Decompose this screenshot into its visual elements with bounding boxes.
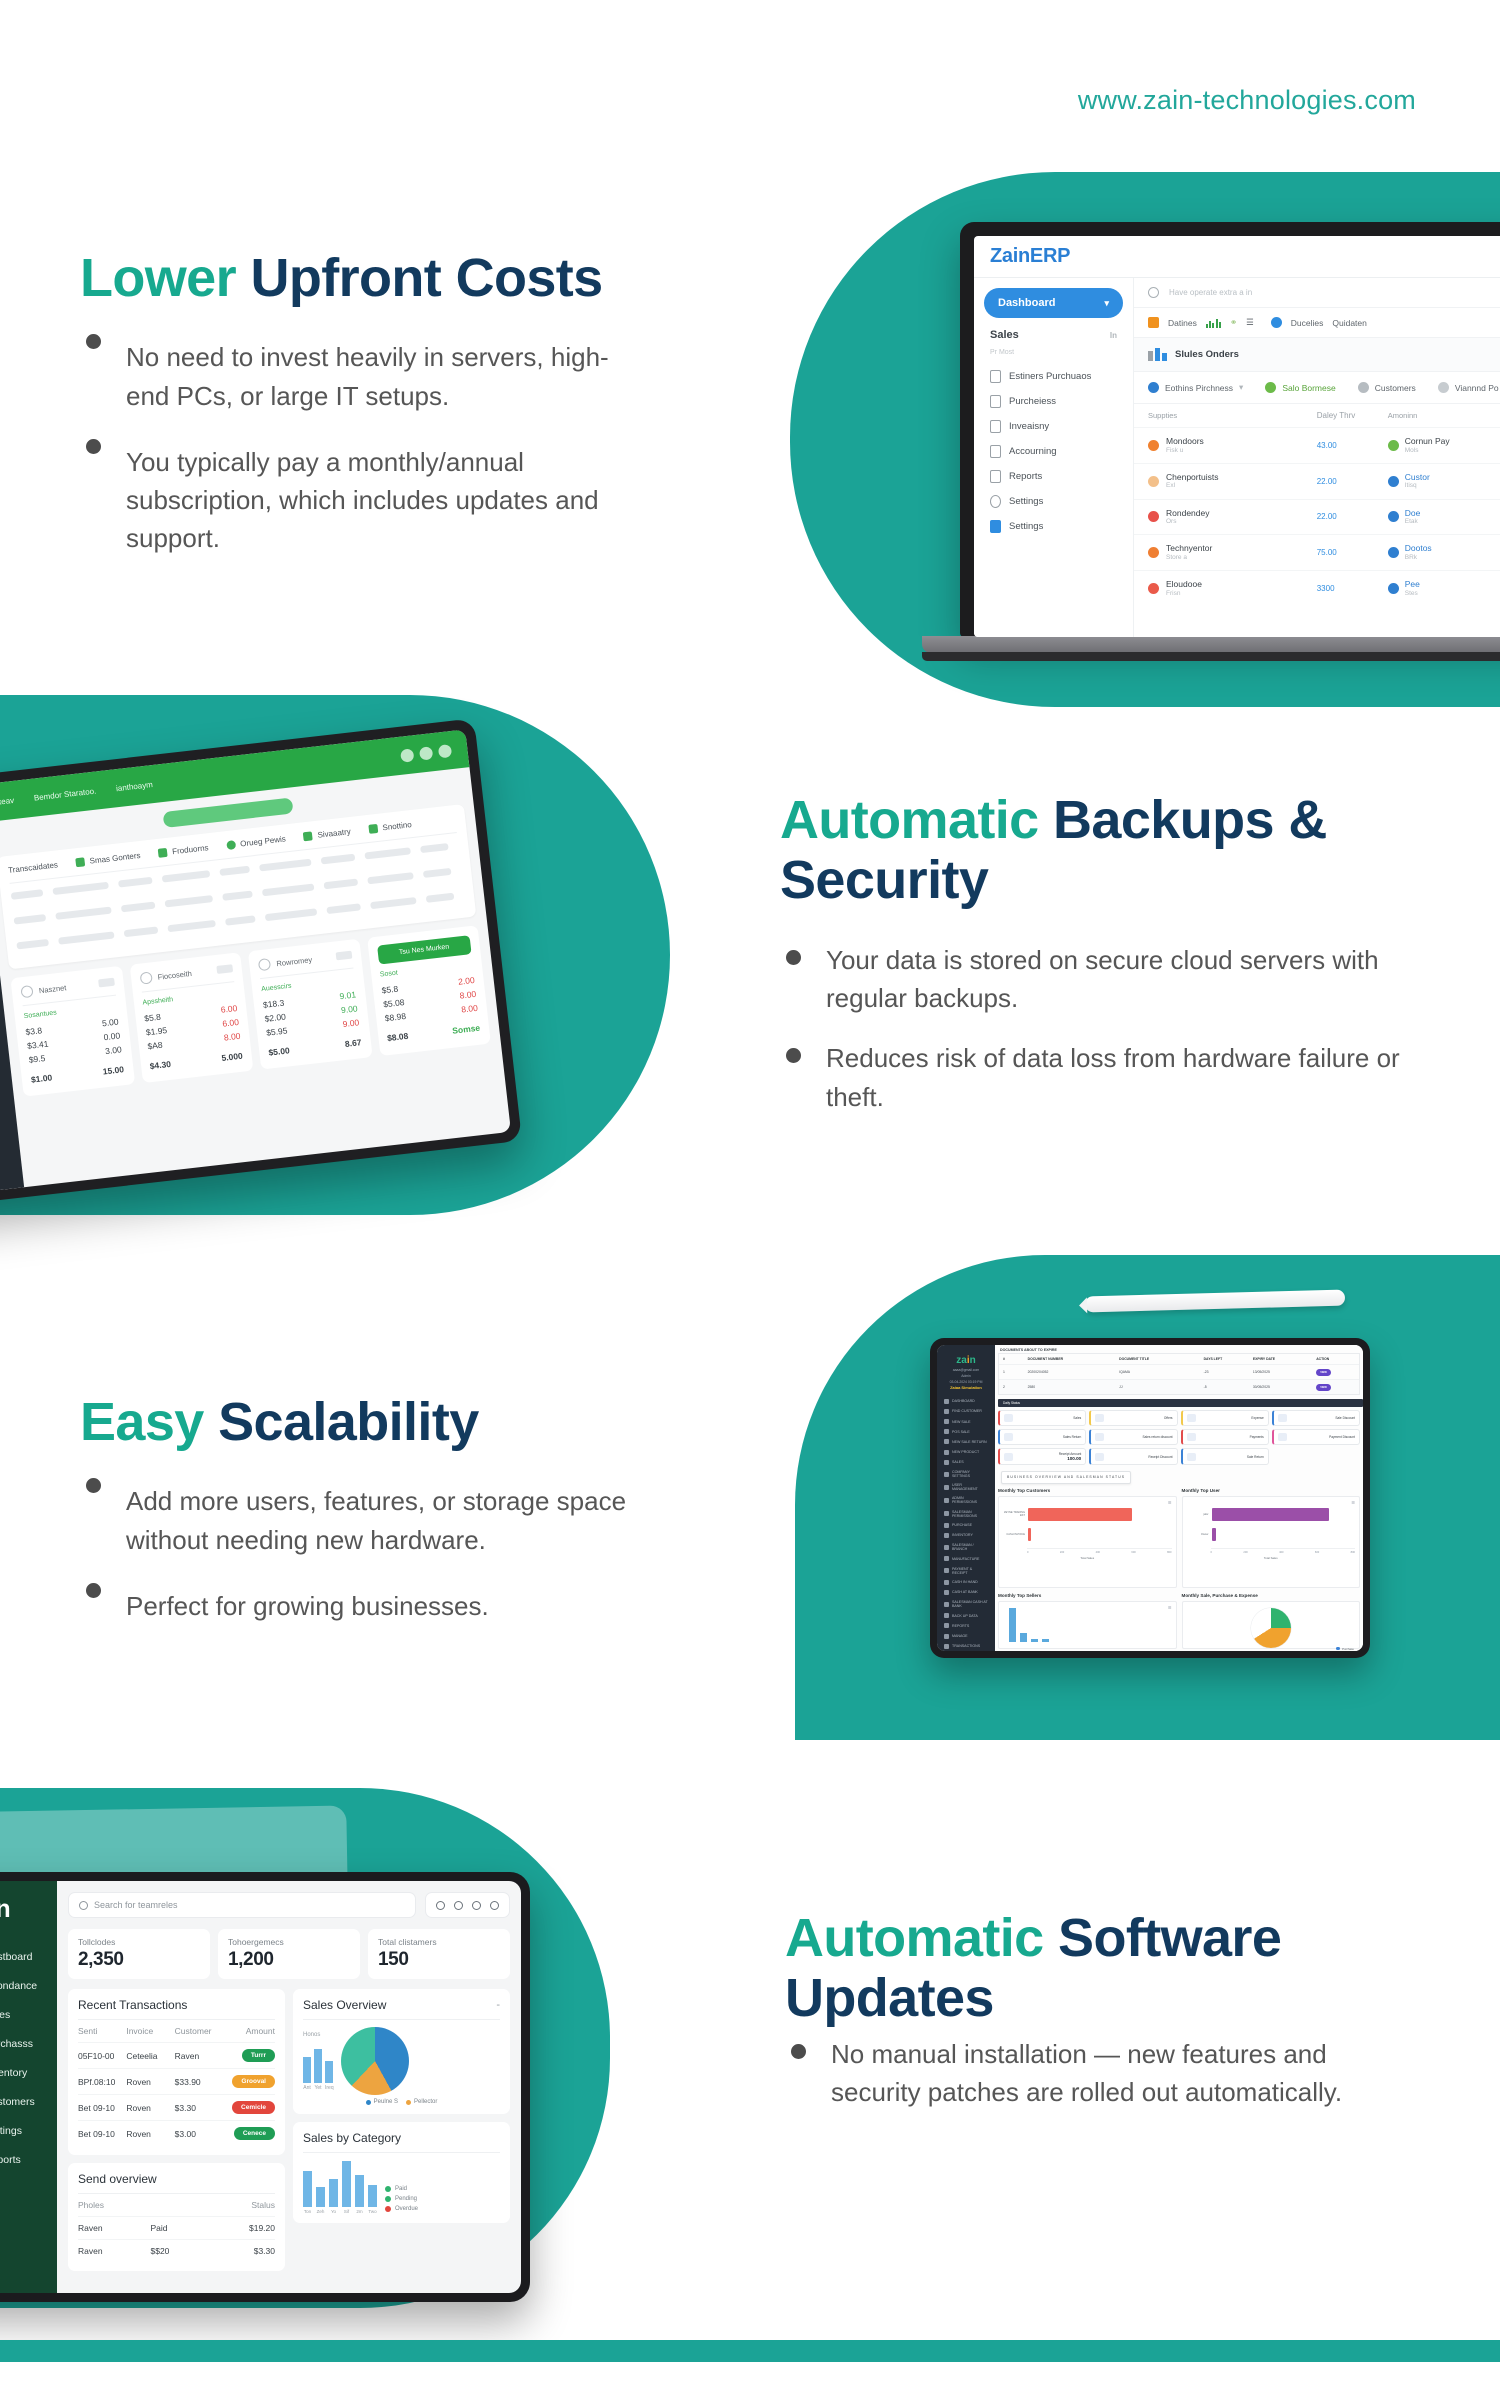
right-column: Sales Overview - Honos Ant Yet Ireq (293, 1989, 510, 2271)
value-left: $5.8 (381, 984, 399, 996)
page-title: Automatic Backups & Security (780, 790, 1400, 911)
nav-icon (944, 1634, 949, 1639)
kpi-value: 150 (378, 1949, 500, 1971)
value-right: 9.01 (339, 989, 357, 1001)
sidebar-item[interactable]: Customers (0, 2087, 57, 2116)
circle-icon (258, 958, 271, 971)
row-status: CustorItisq (1405, 472, 1430, 491)
row-action[interactable]: VIEW (1316, 1384, 1355, 1391)
table-row[interactable]: RavenPaid$19.20 (78, 2216, 275, 2239)
topbar-item[interactable]: ianthoaym (116, 780, 154, 793)
chart-top-user: Monthly Top User ☰ jafer Owner 020040060… (1182, 1488, 1361, 1588)
box-title: Rowromey (276, 955, 313, 968)
value-left: $2.00 (264, 1012, 286, 1024)
sidebar-item-label: Inveaisny (1009, 421, 1049, 432)
sales-by-category-card: Sales by Category TonZehYoSif2mTwo PaidP… (293, 2122, 510, 2223)
status-badge: Grooval (232, 2075, 275, 2088)
column-header: Customer (175, 2026, 223, 2036)
sidebar-item-label: Accourning (1009, 446, 1057, 457)
tab-vendor[interactable]: Viannnd Po (1438, 382, 1499, 393)
chart-body: ☰ ZEYNE TRADING EST CASH INVOICE 0200400… (998, 1496, 1177, 1588)
tablet-mockup-dashboard: zain DastboardAirondanceSalesPurchasssIn… (0, 1872, 530, 2302)
sidebar-item-label: POS SALE (952, 1430, 970, 1434)
sidebar-item-label: Settings (1009, 496, 1043, 507)
stat-icon (1278, 1433, 1287, 1441)
bullet-dot (86, 1583, 101, 1598)
stat-card[interactable]: Offers (1089, 1410, 1177, 1426)
stat-text: Receipt Amount100.00 (1059, 1452, 1082, 1461)
sidebar-item[interactable]: SALES (941, 1457, 991, 1467)
chart-body: Purchase Sale expense (1182, 1601, 1361, 1649)
tab-products[interactable]: Froduorns (158, 843, 209, 858)
row-name: RondendeyOrs (1166, 508, 1209, 527)
sidebar-item[interactable]: MANUFACTURE (941, 1554, 991, 1564)
value-right: 6.00 (222, 1017, 240, 1029)
tab-label: Snottino (382, 820, 412, 832)
more-icon[interactable]: - (496, 1999, 500, 2011)
stat-card[interactable]: Receipt Amount100.00 (998, 1448, 1086, 1465)
shield-icon[interactable]: ⚭ (1230, 317, 1237, 328)
tab-customers[interactable]: Customers (1358, 382, 1416, 393)
row-name: ChenportuistsExl (1166, 472, 1218, 491)
erp-content: Have operate extra a in | ▾ Datines ⚭ ☰ (1134, 278, 1500, 637)
print-icon[interactable] (1271, 317, 1282, 328)
stat-icon (1278, 1414, 1287, 1422)
topbar-actions[interactable] (400, 744, 452, 763)
sidebar-item-accounting[interactable]: Accourning (984, 439, 1123, 464)
pie-chart (1251, 1608, 1291, 1648)
nav-icon (944, 1485, 949, 1490)
stat-card[interactable]: Sale Discount (1272, 1410, 1360, 1426)
legend-label: Paid (395, 2186, 407, 2192)
sidebar-item[interactable]: Settings (0, 2116, 57, 2145)
stat-text: Expense (1251, 1416, 1263, 1420)
status-badge: Cemicle (232, 2101, 275, 2114)
sidebar-item[interactable]: CASH IN HAND (941, 1577, 991, 1587)
kpi-card: Tohoergemecs1,200 (218, 1929, 360, 1979)
sidebar-item[interactable]: BACK UP DATA (941, 1611, 991, 1621)
sidebar-item-label: SALESMAN / BRANCH (952, 1543, 988, 1551)
sidebar-item[interactable]: Airondance (0, 1971, 57, 2000)
sidebar-item-purchases-est[interactable]: Estiners Purchuaos (984, 364, 1123, 389)
avatar[interactable] (490, 1901, 499, 1910)
bullet-list: Add more users, features, or storage spa… (80, 1482, 700, 1625)
sidebar-item[interactable]: POS SALE (941, 1427, 991, 1437)
gear-icon (990, 495, 1001, 508)
gear-icon (990, 520, 1001, 533)
tab-sale-bonus[interactable]: Salo Bormese (1265, 382, 1335, 393)
tick: Ton (303, 2209, 312, 2214)
topbar-item[interactable]: Bemdor Staratoo. (33, 786, 96, 802)
chart-menu-icon[interactable]: ☰ (1168, 1605, 1172, 1610)
sidebar-item-dashboard[interactable]: Dashboard ▾ (984, 288, 1123, 318)
total-left: $1.00 (30, 1072, 52, 1084)
sidebar-item[interactable]: PAYMENT & RECEIPT (941, 1564, 991, 1577)
sidebar-item[interactable]: MANAGE (941, 1631, 991, 1641)
box-icon (990, 420, 1001, 433)
row-cell: $3.00 (175, 2129, 223, 2139)
bullet-dot (86, 439, 101, 454)
value-left: $3.41 (27, 1039, 49, 1051)
nav-icon (944, 1533, 949, 1538)
summary-box: Nasznet Sosantues $3.85.00$3.410.00$9.53… (10, 966, 134, 1097)
status-badge: Turrr (242, 2049, 275, 2062)
value-left: $1.95 (145, 1025, 167, 1037)
page-title: Easy Scalability (80, 1392, 700, 1452)
sidebar-item[interactable]: USER MANAGEMENT (941, 1481, 991, 1494)
stat-icon (1004, 1453, 1013, 1461)
kpi-value: 2,350 (78, 1949, 200, 1971)
sidebar-item-purchases[interactable]: Purcheiess (984, 389, 1123, 414)
sidebar-item-label: Reports (0, 2154, 21, 2166)
sidebar-dashboard-label: Dashboard (998, 297, 1055, 309)
sidebar-item-label: Sales (0, 2009, 10, 2021)
tab-label: Orueg Pewis (240, 834, 287, 848)
chart-body: ☰ jafer Owner 0200400600800 Total Sales (1182, 1496, 1361, 1588)
column-header: Stalus (223, 2200, 275, 2210)
sidebar-item-label: NEW SALE RETURN (952, 1440, 987, 1444)
table-row[interactable]: Raven$$20$3.30 (78, 2239, 275, 2262)
sidebar-item[interactable]: PURCHASE (941, 1520, 991, 1530)
table-row[interactable]: ChenportuistsExl 22.00 CustorItisq (1134, 463, 1500, 499)
circle-icon (226, 840, 236, 850)
refresh-icon[interactable] (454, 1901, 463, 1910)
primary-button[interactable]: Tsu Nes Murken (377, 935, 472, 964)
tab-label: Salo Bormese (1282, 383, 1335, 393)
column-header: Daley Thrv (1317, 411, 1388, 420)
tab-sales-orders[interactable]: Smas Gonters (75, 851, 141, 867)
search-icon (79, 1901, 88, 1910)
sidebar-item-label: FIND CUSTOMER (952, 1409, 982, 1413)
bullet-list: Your data is stored on secure cloud serv… (780, 941, 1400, 1116)
search-input[interactable]: Search for teamreles (68, 1892, 416, 1918)
row-name: MondoorsFisk u (1166, 436, 1204, 455)
tab-label: Smas Gonters (89, 851, 141, 866)
table-row[interactable]: RondendeyOrs 22.00 DoeEtak (1134, 499, 1500, 535)
tab-purchases[interactable]: Eothins Pirchness ▾ (1148, 382, 1243, 393)
stat-card[interactable]: Sales return discount (1089, 1429, 1177, 1445)
erp-brand: ZainERP (990, 245, 1070, 268)
stat-icon (1004, 1414, 1013, 1422)
list-item: Reduces risk of data loss from hardware … (780, 1039, 1400, 1115)
sidebar-item[interactable]: NEW PRODUCT (941, 1447, 991, 1457)
erp-content: DOCUMENTS ABOUT TO EXPIRE #DOCUMENT NUMB… (995, 1345, 1363, 1651)
value-left: $5.08 (383, 997, 405, 1009)
tick: 600 (1131, 1551, 1135, 1554)
bars (1003, 1606, 1172, 1642)
chart-menu-icon[interactable]: ☰ (1168, 1500, 1172, 1505)
legend-label: Pellector (414, 2099, 437, 2105)
sidebar-item-inventory[interactable]: Inveaisny (984, 414, 1123, 439)
stat-card[interactable]: Payments (1181, 1429, 1269, 1445)
stat-card[interactable]: Expense (1181, 1410, 1269, 1426)
row-cell: Raven (78, 2223, 151, 2233)
tab-transactions[interactable]: Transcaidates (8, 860, 59, 875)
row-cell: 1 (1003, 1370, 1028, 1374)
row-cell: Raven (78, 2246, 151, 2256)
value-right: 5.00 (101, 1016, 119, 1028)
nav-icon (944, 1556, 949, 1561)
legend-item: Peulne S (366, 2099, 398, 2105)
row-badge: Cemicle (223, 2101, 275, 2114)
tab-statistics[interactable]: Snottino (368, 820, 412, 834)
row-cell: Paid (151, 2223, 224, 2233)
kpi-value: 1,200 (228, 1949, 350, 1971)
sidebar-item-label: PURCHASE (952, 1523, 972, 1527)
sidebar-item[interactable]: Dastboard (0, 1942, 57, 1971)
sidebar-item-sales[interactable]: Sales In (984, 318, 1123, 347)
table-row[interactable]: 22580JJ-530/05/2025VIEW (999, 1379, 1359, 1394)
list-item-text: You typically pay a monthly/annual subsc… (126, 447, 599, 553)
row-cell: -5 (1204, 1385, 1253, 1389)
bullet-dot (86, 334, 101, 349)
section-header: Slules Onders (1134, 338, 1500, 372)
row-amount: 75.00 (1317, 548, 1388, 557)
value-left: $8.98 (384, 1011, 406, 1023)
table-row[interactable]: TechnyentorStore a 75.00 DootosBRk (1134, 534, 1500, 570)
list-item: No need to invest heavily in servers, hi… (80, 338, 640, 414)
bar-label: Owner (1187, 1533, 1209, 1536)
stat-icon (1095, 1433, 1104, 1441)
row-cell: $3.30 (223, 2246, 275, 2256)
sidebar-item-label: DASHBOARD (952, 1399, 975, 1403)
total-left: $5.00 (268, 1045, 290, 1057)
heading-highlight: Automatic (785, 1908, 1058, 1968)
table-row[interactable]: EloudooeFrisn 3300 PeeStes (1134, 570, 1500, 606)
sidebar-item[interactable]: NEW SALE (941, 1417, 991, 1427)
kpi-card: Tollclodes2,350 (68, 1929, 210, 1979)
placeholder (216, 964, 233, 974)
sidebar-item[interactable]: Sales (0, 2000, 57, 2029)
action-icons[interactable] (425, 1892, 510, 1918)
sidebar-item[interactable]: ADMIN PERMISSIONS (941, 1494, 991, 1507)
expiry-title: DOCUMENTS ABOUT TO EXPIRE (995, 1345, 1363, 1353)
table-row[interactable]: 05F10-00CeteeliaRavenTurrr (78, 2042, 275, 2068)
toolbar-item-label[interactable]: Ducelies (1291, 318, 1324, 328)
sidebar-item-settings-2[interactable]: Settings (984, 514, 1123, 539)
sidebar-item[interactable]: DASHBOARD (941, 1396, 991, 1406)
stat-card[interactable]: Sale Return (1181, 1448, 1269, 1465)
bar (1212, 1508, 1330, 1521)
value-right: 9.00 (342, 1017, 360, 1029)
table-body: 05F10-00CeteeliaRavenTurrrBPf.08:10Roven… (78, 2042, 275, 2146)
row-action[interactable]: VIEW (1316, 1369, 1355, 1376)
topbar-item[interactable]: Scromtioteav (0, 795, 15, 809)
sidebar-item[interactable]: ertings (0, 1100, 8, 1133)
sidebar-item-label: SALESMAN CASH AT BANK (952, 1600, 988, 1608)
total-left: $8.08 (387, 1031, 409, 1043)
sidebar-item[interactable]: SALESMAN CASH AT BANK (941, 1598, 991, 1611)
value-right: 8.00 (459, 989, 477, 1001)
row-cell: 05F10-00 (78, 2051, 126, 2061)
sidebar-item-label: PAYMENT & RECEIPT (952, 1567, 988, 1575)
table-row[interactable]: MondoorsFisk u 43.00 Cornun PayMols (1134, 427, 1500, 463)
row-cell: Roven (126, 2077, 174, 2087)
list-item: Perfect for growing businesses. (80, 1587, 700, 1625)
sidebar-item[interactable]: SALESMAN / BRANCH (941, 1541, 991, 1554)
nav-icon (944, 1602, 949, 1607)
tick: Yo (329, 2209, 338, 2214)
heading-highlight: Lower (80, 248, 250, 308)
stat-icon (1095, 1453, 1104, 1461)
sidebar-item-label: MANAGE (952, 1634, 968, 1638)
tick: 0 (1027, 1551, 1028, 1554)
sidebar-item[interactable]: Inventory (0, 2058, 57, 2087)
table-body: 120200204052IQAMA-2313/05/2025VIEW22580J… (999, 1364, 1359, 1394)
tablet-screen: n ▾ ☰ Scromtioteav Bemdor Staratoo. iant… (0, 729, 511, 1199)
table-body: MondoorsFisk u 43.00 Cornun PayMols Chen… (1134, 427, 1500, 606)
table-row[interactable]: Bet 09-10Roven$3.00Cenece (78, 2120, 275, 2146)
stat-card[interactable]: Payment Discount (1272, 1429, 1360, 1445)
row-cell: Ceteelia (126, 2051, 174, 2061)
toolbar-item-label[interactable]: Datines (1168, 318, 1197, 328)
stat-text: Offers (1164, 1416, 1173, 1420)
sidebar-item[interactable]: NEW SALE RETURN (941, 1437, 991, 1447)
sidebar-item[interactable]: TRANSACTIONS (941, 1641, 991, 1651)
nav-icon (944, 1450, 949, 1455)
erp-main: Dashboard ▾ Sales In Pr Most Estiners Pu… (974, 278, 1500, 637)
calendar-icon[interactable] (1148, 317, 1159, 328)
value-left: $5.95 (266, 1025, 288, 1037)
bar (355, 2175, 364, 2207)
chart-legend: Peulne S Pellector (303, 2095, 500, 2105)
mini-bar-chart: Honos Ant Yet Ireq (303, 2032, 333, 2091)
sidebar-item[interactable]: Reports (0, 2145, 57, 2174)
table-row[interactable]: Bet 09-10Roven$3.30Cemicle (78, 2094, 275, 2120)
box-header: Rowromey (258, 949, 353, 979)
sidebar-item[interactable]: CASH AT BANK (941, 1587, 991, 1597)
nav-icon (944, 1568, 949, 1573)
nav-icon (944, 1399, 949, 1404)
list-item-text: Add more users, features, or storage spa… (126, 1486, 626, 1554)
row-cell: 13/05/2025 (1253, 1370, 1316, 1374)
stat-card[interactable]: Receipt Discount (1089, 1448, 1177, 1465)
sidebar-item[interactable]: SALESMAN PERMISSIONS (941, 1507, 991, 1520)
row-cell: BPf.08:10 (78, 2077, 126, 2087)
bullet-dot (786, 1048, 801, 1063)
chart-title: Monthly Sale, Purchase & Expense (1182, 1593, 1361, 1601)
value-left: $5.8 (144, 1012, 162, 1024)
business-overview-banner[interactable]: BUSINESS OVERVIEW AND SALESMAN STATUS (1001, 1471, 1131, 1484)
chart-sale-purchase-expense: Monthly Sale, Purchase & Expense Purchas… (1182, 1593, 1361, 1649)
report-icon (990, 470, 1001, 483)
list-icon[interactable]: ☰ (1246, 317, 1254, 328)
row-cell: -23 (1204, 1370, 1253, 1374)
nav-icon (944, 1460, 949, 1465)
x-axis-label: Total Sales (1003, 1554, 1172, 1560)
status-dot (1265, 382, 1276, 393)
sidebar-item[interactable]: Purchasss (0, 2029, 57, 2058)
section-automatic-software-updates: Automatic Software Updates No manual ins… (785, 1908, 1405, 2133)
status-dot (1388, 511, 1399, 522)
sidebar-item-label: Purcheiess (1009, 396, 1056, 407)
bar-row: CASH INVOICE (1003, 1528, 1172, 1541)
toolbar-item-label[interactable]: Quidaten (1332, 318, 1367, 328)
status-pill (163, 797, 294, 828)
footer-bar (0, 2340, 1500, 2362)
table-row[interactable]: BPf.08:10Roven$33.90Grooval (78, 2068, 275, 2094)
tick: 400 (1279, 1551, 1283, 1554)
column-header: Senti (78, 2026, 126, 2036)
transactions-table: SentiInvoiceCustomerAmount 05F10-00Cetee… (78, 2020, 275, 2146)
help-icon[interactable] (472, 1901, 481, 1910)
value-right: 2.00 (458, 975, 476, 987)
sidebar-item-settings[interactable]: Settings (984, 489, 1123, 514)
sidebar-item-label: Settings (1009, 521, 1043, 532)
sidebar-item[interactable]: FIND CUSTOMER (941, 1406, 991, 1416)
status-dot (1388, 476, 1399, 487)
bell-icon[interactable] (436, 1901, 445, 1910)
stat-text: Sale Return (1247, 1455, 1264, 1459)
chart-top-sellers: Monthly Top Sellers ☰ (998, 1593, 1177, 1649)
sidebar-item[interactable]: COMPANY SETTINGS (941, 1467, 991, 1480)
bar-label: ZEYNE TRADING EST (1003, 1511, 1025, 1517)
sidebar-item-label: Purchasss (0, 2038, 33, 2050)
nav-icon (944, 1644, 949, 1649)
legend-label: Peulne S (374, 2099, 398, 2105)
list-item: Add more users, features, or storage spa… (80, 1482, 700, 1558)
section-title: Slules Onders (1175, 349, 1239, 360)
tick: Ant (303, 2085, 311, 2091)
tab-summary[interactable]: Sivaaatry (303, 827, 351, 841)
legend-item: Pending (385, 2194, 418, 2204)
tab-group-panels[interactable]: Orueg Pewis (226, 834, 286, 850)
nav-icon (944, 1419, 949, 1424)
status-dot (1148, 511, 1159, 522)
tick: 200 (1243, 1551, 1247, 1554)
column-header: EXPIRY DATE (1253, 1357, 1316, 1361)
sidebar-item[interactable]: INVENTORY (941, 1530, 991, 1540)
x-labels: TonZehYoSif2mTwo (303, 2207, 377, 2214)
value-left: $18.3 (262, 998, 284, 1010)
sidebar-item-label: Estiners Purchuaos (1009, 371, 1091, 382)
laptop-mockup-erp: ZainERP ⚡ Help and Dashboard ▾ Sales In (960, 222, 1500, 637)
sidebar-item-reports[interactable]: Reports (984, 464, 1123, 489)
stat-card[interactable]: Sales (998, 1410, 1086, 1426)
status-dot (1148, 547, 1159, 558)
bar-row: ZEYNE TRADING EST (1003, 1508, 1172, 1521)
send-table: Pholes Stalus RavenPaid$19.20Raven$$20$3… (78, 2194, 275, 2262)
sidebar-item-label: Dastboard (0, 1951, 32, 1963)
total-right: 5.000 (221, 1051, 243, 1063)
chart-menu-icon[interactable]: ☰ (1351, 1500, 1355, 1505)
search-bar[interactable]: Have operate extra a in | ▾ (1134, 278, 1500, 308)
row-cell: 2580 (1028, 1385, 1120, 1389)
table-header: Suppties Daley Thrv Amoninn Soilos Seco (1134, 404, 1500, 427)
table-row[interactable]: 120200204052IQAMA-2313/05/2025VIEW (999, 1364, 1359, 1379)
grid-icon (75, 857, 85, 867)
row-cell: 30/05/2025 (1253, 1385, 1316, 1389)
circle-icon (139, 971, 152, 984)
erp-sidebar: Dashboard ▾ Sales In Pr Most Estiners Pu… (974, 278, 1134, 637)
nav-icon (944, 1472, 949, 1477)
row-cell: Roven (126, 2103, 174, 2113)
tick: Two (368, 2209, 377, 2214)
site-url[interactable]: www.zain-technologies.com (1078, 85, 1416, 116)
bars (303, 2041, 333, 2083)
sidebar-item[interactable]: REPORTS (941, 1621, 991, 1631)
total-right: 15.00 (102, 1064, 124, 1076)
pos-content: Transcaidates Smas Gonters Froduorns Oru… (0, 767, 511, 1187)
status-badge: Cenece (234, 2127, 275, 2140)
chart-body: ☰ (998, 1601, 1177, 1649)
row-amount: 22.00 (1317, 512, 1388, 521)
stat-card[interactable]: Sales Return (998, 1429, 1086, 1445)
chevron-down-icon: ▾ (1239, 382, 1243, 393)
stat-icon (1187, 1433, 1196, 1441)
sidebar-item-label: Airondance (0, 1980, 37, 1992)
section-easy-scalability: Easy Scalability Add more users, feature… (80, 1392, 700, 1653)
